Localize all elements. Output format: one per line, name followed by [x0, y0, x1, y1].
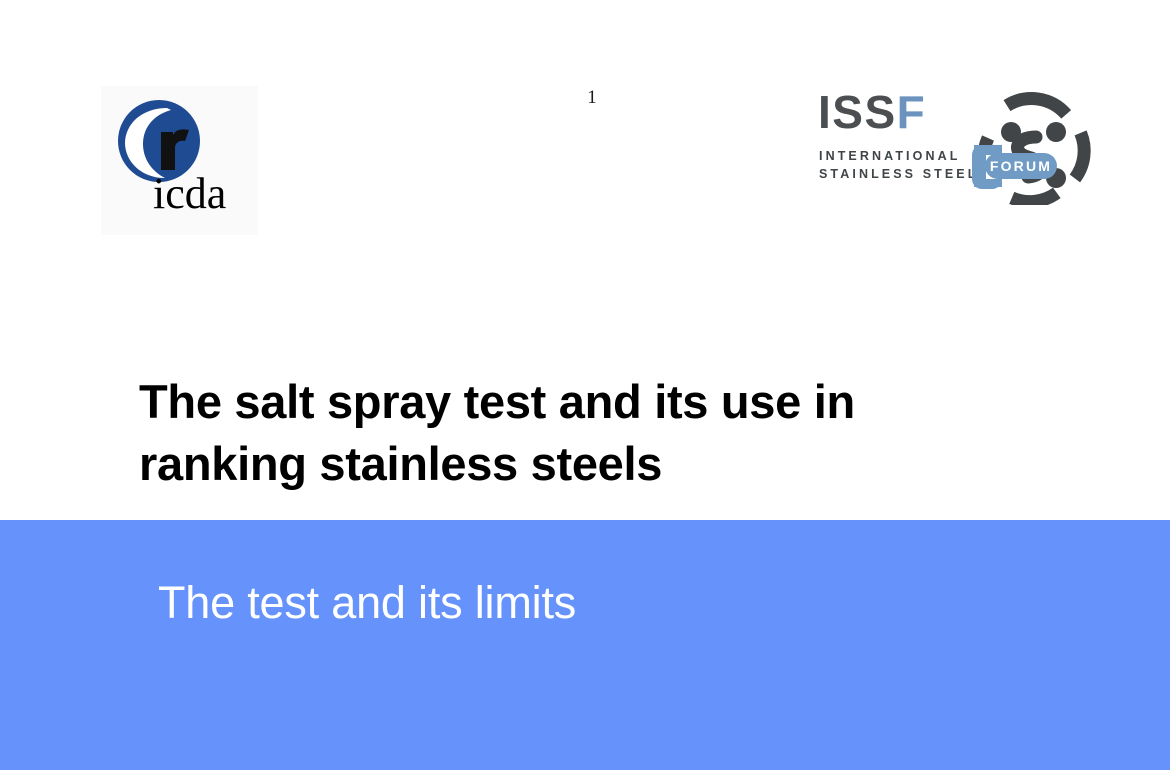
issf-emblem-dot-2 — [1046, 122, 1066, 142]
page-title: The salt spray test and its use in ranki… — [139, 371, 1019, 495]
issf-wordmark-accent: F — [897, 86, 927, 138]
issf-wordmark-dark: ISS — [818, 86, 897, 138]
presentation-slide: icda 1 ISSF INTERNATIONAL STAINLESS STEE… — [0, 0, 1170, 770]
icda-logo: icda — [101, 86, 258, 235]
issf-emblem-forum-label: FORUM — [990, 158, 1052, 174]
subtitle-text: The test and its limits — [158, 575, 576, 631]
subtitle-banner — [0, 520, 1170, 770]
icda-wordmark-text: icda — [153, 169, 226, 218]
icda-logo-mark: icda — [101, 86, 258, 235]
issf-wordmark: ISSF — [818, 85, 926, 139]
page-title-line-1: The salt spray test and its use in — [139, 371, 1019, 433]
slide-page-number: 1 — [578, 86, 606, 110]
issf-logo: ISSF INTERNATIONAL STAINLESS STEEL — [816, 85, 1104, 205]
issf-emblem-icon: FORUM — [944, 87, 1104, 205]
page-title-line-2: ranking stainless steels — [139, 433, 1019, 495]
